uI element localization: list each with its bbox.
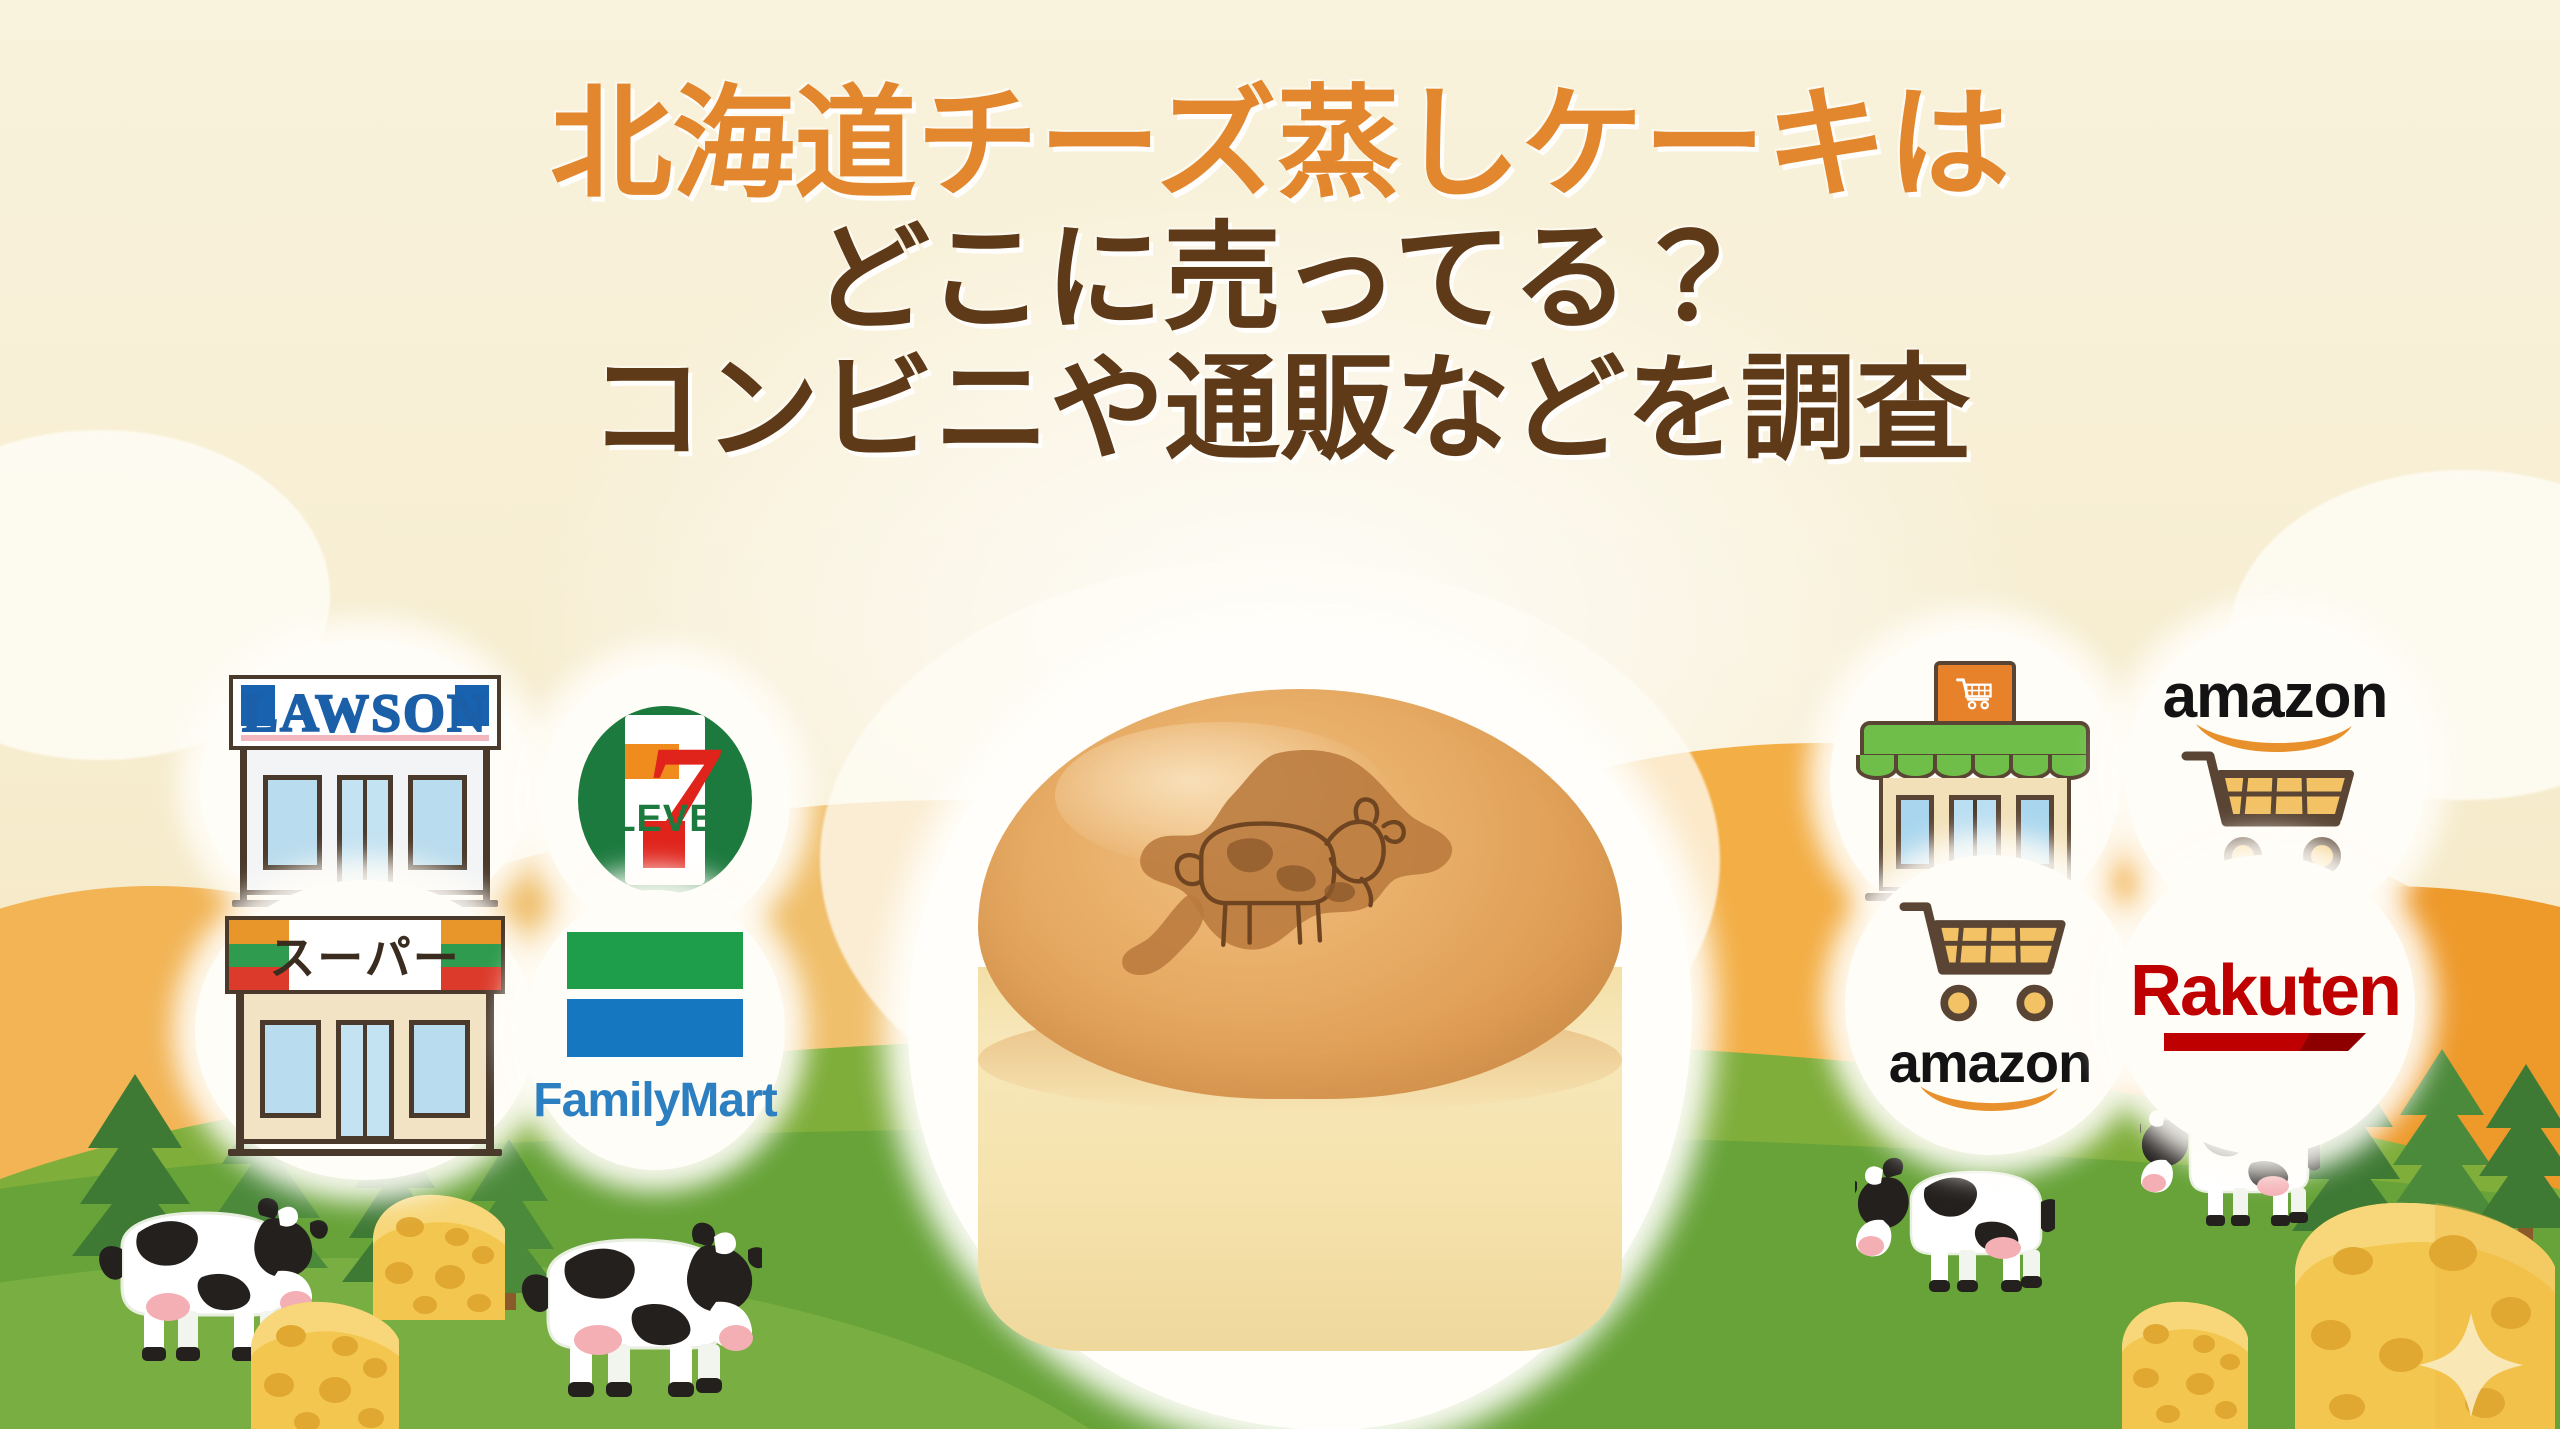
banner-canvas: 北海道チーズ蒸しケーキは どこに売ってる？ コンビニや通販などを調査 LAWSO… — [0, 0, 2560, 1429]
seven-eleven-wordmark: ELEVEN — [566, 798, 764, 841]
hokkaido-map-with-cow-stamp — [1120, 742, 1494, 1007]
lawson-wordmark: LAWSON — [242, 682, 488, 744]
supermarket-base — [228, 1149, 503, 1157]
familymart-green-bar — [567, 932, 744, 990]
rakuten-wordmark: Rakuten — [2130, 955, 2400, 1027]
lawson-window-left — [263, 775, 323, 870]
lawson-pillar-right — [483, 750, 490, 900]
amazon-wordmark: amazon — [1889, 1035, 2092, 1091]
supermarket-storefront-icon: スーパー — [219, 901, 511, 1159]
amazon-wordmark: amazon — [2163, 666, 2388, 728]
rakuten-logo-icon: Rakuten — [2141, 881, 2389, 1129]
cheese-wedge-right-1 — [2108, 1290, 2258, 1429]
cheese-wedge-left-2 — [235, 1290, 415, 1429]
cheese-wedge-right-2 — [2275, 1195, 2560, 1429]
online-shop-sign — [1934, 661, 2015, 725]
rakuten-underline-icon — [2160, 1029, 2370, 1055]
cow-left-2 — [490, 1210, 762, 1406]
familymart-wordmark: FamilyMart — [533, 1073, 776, 1128]
shopping-cart-icon — [1953, 676, 1997, 711]
product-image-wrap — [950, 660, 1650, 1380]
lawson-pillar-left — [240, 750, 247, 900]
supermarket-wordmark: スーパー — [269, 922, 461, 988]
cow-right-1 — [1855, 1150, 2055, 1300]
supermarket-door — [336, 1020, 394, 1141]
logo-bubble-supermarket[interactable]: スーパー — [195, 880, 535, 1180]
online-shop-window-left — [1896, 795, 1934, 869]
logo-bubble-amazon-bottom[interactable]: amazon — [1845, 855, 2135, 1155]
logo-bubble-familymart[interactable]: FamilyMart — [525, 890, 785, 1170]
lawson-storefront-icon: LAWSON — [223, 660, 507, 909]
supermarket-pillar-left — [236, 994, 244, 1149]
supermarket-window-left — [260, 1020, 321, 1118]
shopping-cart-icon — [1897, 899, 2082, 1029]
online-shop-awning-scallop — [1860, 755, 2090, 780]
familymart-blue-bar — [567, 999, 744, 1057]
lawson-door — [337, 775, 394, 892]
amazon-cart-logo-icon: amazon — [1870, 881, 2109, 1129]
logo-bubble-rakuten[interactable]: Rakuten — [2115, 855, 2415, 1155]
supermarket-pillar-right — [486, 994, 494, 1149]
online-shop-awning — [1860, 721, 2090, 758]
supermarket-window-right — [409, 1020, 470, 1118]
lawson-window-right — [408, 775, 468, 870]
seven-eleven-logo-icon: 7 ELEVEN — [566, 693, 764, 907]
familymart-logo-icon: FamilyMart — [552, 919, 758, 1141]
hokkaido-cheese-steamed-cake — [978, 689, 1622, 1351]
supermarket-sign: スーパー — [225, 916, 506, 993]
lawson-sign: LAWSON — [229, 675, 501, 750]
